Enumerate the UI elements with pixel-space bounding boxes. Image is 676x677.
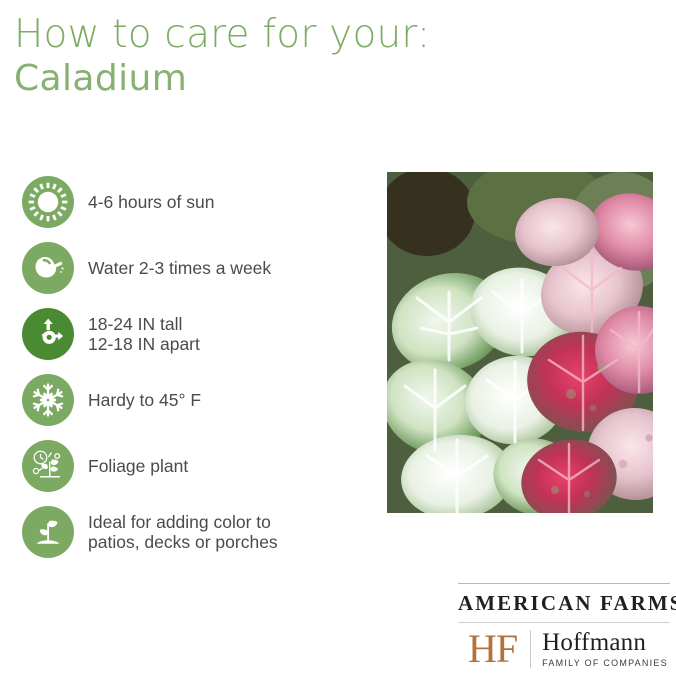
page-title-block: How to care for your: Caladium — [14, 14, 614, 101]
plant-spacing-icon — [28, 314, 68, 354]
care-text-water: Water 2-3 times a week — [88, 258, 271, 278]
care-text-foliage: Foliage plant — [88, 456, 188, 476]
care-text-spacing: 18-24 IN tall 12-18 IN apart — [88, 314, 200, 355]
care-row-water: Water 2-3 times a week — [22, 242, 372, 294]
care-text-usage: Ideal for adding color to patios, decks … — [88, 512, 278, 553]
foliage-plant-icon — [27, 445, 69, 487]
care-text-hardiness: Hardy to 45° F — [88, 390, 201, 410]
hoffmann-wordmark: Hoffmann — [542, 630, 668, 656]
page-title: How to care for your: — [14, 14, 614, 56]
logo-vertical-divider — [530, 630, 531, 668]
sun-icon-badge — [22, 176, 74, 228]
watering-can-icon — [28, 248, 68, 288]
hoffmann-wordmark-group: Hoffmann FAMILY OF COMPANIES — [542, 630, 668, 667]
sun-icon — [26, 180, 70, 224]
care-row-spacing: 18-24 IN tall 12-18 IN apart — [22, 308, 372, 360]
hoffmann-logo-row: HF Hoffmann FAMILY OF COMPANIES — [458, 623, 670, 669]
care-row-usage: Ideal for adding color to patios, decks … — [22, 506, 372, 558]
snowflake-icon-badge — [22, 374, 74, 426]
american-farms-wordmark: AMERICAN FARMS — [458, 584, 670, 622]
care-text-sun: 4-6 hours of sun — [88, 192, 214, 212]
hf-monogram: HF — [468, 629, 517, 669]
caladium-foliage-photo — [387, 172, 653, 513]
plant-name: Caladium — [14, 58, 614, 100]
seedling-icon-badge — [22, 506, 74, 558]
brand-logo: AMERICAN FARMS HF Hoffmann FAMILY OF COM… — [458, 583, 670, 669]
seedling-icon — [28, 512, 68, 552]
watering-can-icon-badge — [22, 242, 74, 294]
hoffmann-tagline: FAMILY OF COMPANIES — [542, 659, 668, 668]
care-row-hardiness: Hardy to 45° F — [22, 374, 372, 426]
care-row-foliage: Foliage plant — [22, 440, 372, 492]
care-instructions-list: 4-6 hours of sun Water 2-3 times a week — [22, 176, 372, 558]
snowflake-icon — [28, 380, 68, 420]
care-row-sun: 4-6 hours of sun — [22, 176, 372, 228]
foliage-plant-icon-badge — [22, 440, 74, 492]
plant-spacing-icon-badge — [22, 308, 74, 360]
